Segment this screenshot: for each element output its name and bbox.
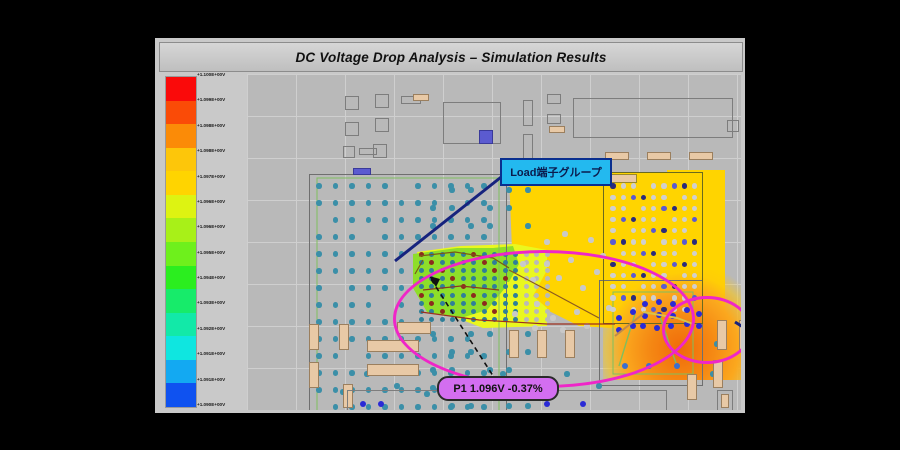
- component-footprint: [375, 94, 389, 108]
- legend-swatch: [166, 148, 196, 172]
- legend-tick: +1.093E+00V: [197, 300, 225, 305]
- legend-tick: +1.098E+00V: [197, 123, 225, 128]
- component-pad: [549, 126, 565, 133]
- component-footprint: [727, 120, 739, 132]
- component-pad: [647, 152, 671, 160]
- component-pad-bottom: [687, 374, 697, 400]
- component-pad: [721, 394, 729, 408]
- legend-swatch: [166, 242, 196, 266]
- component-footprint: [547, 94, 561, 104]
- component-footprint: [359, 148, 377, 155]
- legend-swatch: [166, 218, 196, 242]
- legend-swatch: [166, 360, 196, 384]
- component-pad-bottom: [713, 360, 723, 388]
- legend-swatch: [166, 77, 196, 101]
- screenshot-root: DC Voltage Drop Analysis – Simulation Re…: [0, 0, 900, 450]
- window-title-bar: DC Voltage Drop Analysis – Simulation Re…: [159, 42, 743, 72]
- legend-tick: +1.099E+00V: [197, 97, 225, 102]
- color-legend: +1.100E+00V+1.099E+00V+1.098E+00V+1.098E…: [161, 74, 246, 410]
- component-footprint: [345, 96, 359, 110]
- legend-tick: +1.095E+00V: [197, 250, 225, 255]
- legend-tick: +1.096E+00V: [197, 224, 225, 229]
- component-pad-highlight: [479, 130, 493, 144]
- component-pad: [609, 174, 637, 183]
- legend-tick: +1.091E+00V: [197, 377, 225, 382]
- component-pad-blue: [353, 168, 371, 175]
- component-pad-bottom: [309, 362, 319, 388]
- component-footprint: [523, 134, 533, 160]
- legend-tick: +1.100E+00V: [197, 72, 225, 77]
- component-footprint: [375, 118, 389, 132]
- component-footprint: [547, 114, 561, 124]
- probe-value-pill[interactable]: P1 1.096V -0.37%: [437, 376, 559, 401]
- component-pad-bottom: [367, 364, 419, 376]
- legend-tick: +1.091E+00V: [197, 351, 225, 356]
- component-footprint: [523, 100, 533, 126]
- legend-tick: +1.097E+00V: [197, 174, 225, 179]
- legend-swatch: [166, 195, 196, 219]
- legend-tick: +1.090E+00V: [197, 402, 225, 407]
- component-footprint-connector: [573, 98, 733, 138]
- legend-tick: +1.094E+00V: [197, 275, 225, 280]
- load-group-highlight-ellipse: [393, 250, 695, 388]
- legend-swatch: [166, 313, 196, 337]
- component-footprint: [345, 122, 359, 136]
- legend-swatch: [166, 266, 196, 290]
- legend-color-swatches: [165, 76, 197, 408]
- component-pad-bottom: [309, 324, 319, 350]
- legend-swatch: [166, 124, 196, 148]
- legend-swatch: [166, 171, 196, 195]
- pcb-heatmap-canvas[interactable]: Load端子グループ 電源供給点 P1 1.096V -0.37%: [247, 74, 741, 410]
- legend-tick: +1.096E+00V: [197, 199, 225, 204]
- component-pad: [689, 152, 713, 160]
- callout-load-group[interactable]: Load端子グループ: [500, 158, 612, 186]
- legend-swatch: [166, 383, 196, 407]
- component-footprint: [343, 146, 355, 158]
- probe-value-label: P1 1.096V -0.37%: [453, 383, 542, 395]
- callout-load-group-label: Load端子グループ: [510, 164, 602, 180]
- legend-tick: +1.092E+00V: [197, 326, 225, 331]
- component-pad-bottom: [339, 324, 349, 350]
- page-title: DC Voltage Drop Analysis – Simulation Re…: [295, 50, 606, 65]
- legend-swatch: [166, 336, 196, 360]
- legend-swatch: [166, 101, 196, 125]
- legend-swatch: [166, 289, 196, 313]
- legend-tick-labels: +1.100E+00V+1.099E+00V+1.098E+00V+1.098E…: [197, 70, 246, 408]
- component-pad: [413, 94, 429, 101]
- legend-tick: +1.098E+00V: [197, 148, 225, 153]
- application-window: DC Voltage Drop Analysis – Simulation Re…: [155, 38, 745, 413]
